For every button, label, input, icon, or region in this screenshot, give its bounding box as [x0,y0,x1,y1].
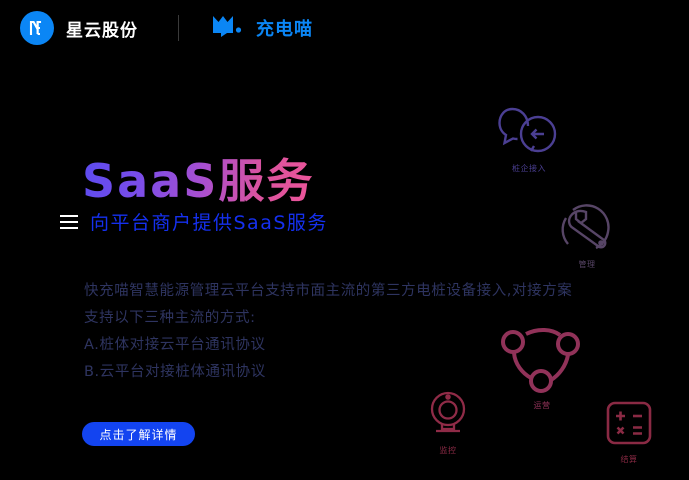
page-subtitle: 向平台商户提供SaaS服务 [90,208,328,235]
subtitle-row: 向平台商户提供SaaS服务 [60,208,328,235]
brand-primary[interactable]: 星云股份 [20,11,138,45]
feature-chat-label: 桩企接入 [512,163,546,174]
feature-manage-label: 管理 [579,259,596,270]
chat-bubbles-icon [498,104,560,160]
feature-ops[interactable]: 运营 [500,327,584,411]
learn-more-button[interactable]: 点击了解详情 [82,422,195,446]
camera-monitor-icon [424,390,472,442]
feature-monitor-label: 监控 [440,445,457,456]
description-paragraph: 快充喵智慧能源管理云平台支持市面主流的第三方电桩设备接入,对接方案支持以下三种主… [84,278,579,332]
brand-secondary[interactable]: 充电喵 [211,13,313,43]
feature-billing-label: 结算 [621,454,638,465]
brand-secondary-name: 充电喵 [256,15,313,41]
feature-manage[interactable]: 管理 [560,204,614,270]
feature-ops-label: 运营 [534,400,551,411]
feature-billing[interactable]: 结算 [604,399,654,465]
feature-chat[interactable]: 桩企接入 [498,104,560,174]
brand-primary-name: 星云股份 [66,16,138,41]
ne-monogram-icon [20,11,54,45]
network-share-icon [500,327,584,397]
feature-monitor[interactable]: 监控 [424,390,472,456]
cat-face-icon [211,13,247,43]
calculator-icon [604,399,654,451]
wrench-gear-icon [560,204,614,256]
header-divider [178,15,179,41]
hamburger-icon [60,215,78,229]
page-title: SaaS服务 [82,157,314,205]
page-header: 星云股份 充电喵 [0,0,689,56]
